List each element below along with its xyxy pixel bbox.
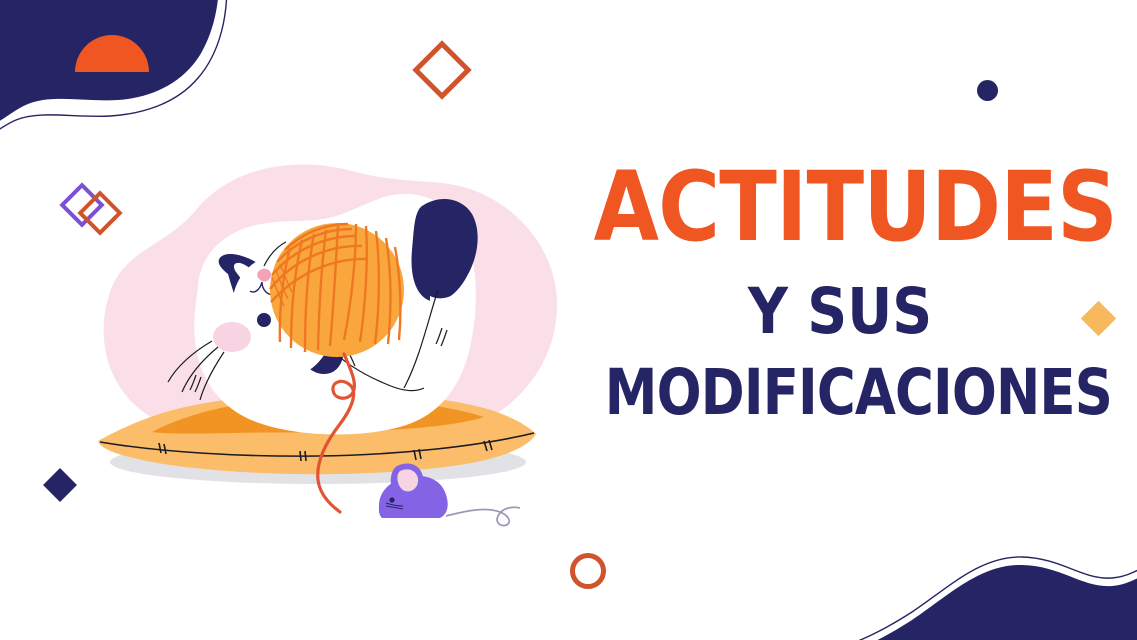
cat-ear-left-inner [234,263,271,302]
cat-contour-lines [264,242,447,391]
yarn-ball [270,223,404,357]
cat-body [194,194,476,435]
toy-mouse-eye [389,497,394,502]
circle-orange-outline-icon [570,553,606,589]
diamond-navy-icon [43,468,77,502]
pink-blob-background [104,164,557,451]
cat-paw-white-tip [430,282,469,318]
page-title: ACTITUDES [594,160,1087,254]
diamond-orange-outline-icon [412,40,471,99]
title-block: ACTITUDES Y SUS MODIFICACIONES [560,160,1120,424]
toy-mouse-ear [391,463,424,496]
cat-ear-left [219,254,301,345]
semicircle-orange-top-left [75,35,149,72]
cushion-shadow [110,440,526,484]
blob-navy-top-left [0,0,219,138]
dot-navy-icon [977,80,998,101]
cushion [98,392,536,474]
cat-eye-near [290,286,302,298]
yarn-string [318,354,355,512]
toy-mouse-whiskers [386,503,403,509]
yarn-loose-strands [272,264,292,306]
cat-paw-navy [412,199,478,302]
cushion-seam-line [100,433,534,456]
toy-mouse-body [379,476,448,518]
cat-whiskers [168,341,224,400]
cushion-top-band [152,397,484,434]
toy-mouse-ear-inner [397,469,418,491]
outline-wave-bottom-right [846,540,1137,640]
wave-navy-bottom-right [846,548,1137,640]
outline-curve-top-left [0,0,227,152]
yarn-ball-stripes [270,224,400,352]
subtitle-line-2: MODIFICACIONES [605,361,1075,424]
cat-cheek-blush [213,322,251,352]
subtitle-line-1: Y SUS [594,280,1087,343]
cat-mouth [250,282,274,294]
cushion-stitches [159,440,492,461]
cat-nose [257,269,271,282]
toy-mouse-tail [446,507,520,525]
slide-canvas: ACTITUDES Y SUS MODIFICACIONES [0,0,1137,640]
cat-eye-far [257,313,271,327]
cat-head [231,254,336,380]
cat-ear-right [286,294,344,374]
